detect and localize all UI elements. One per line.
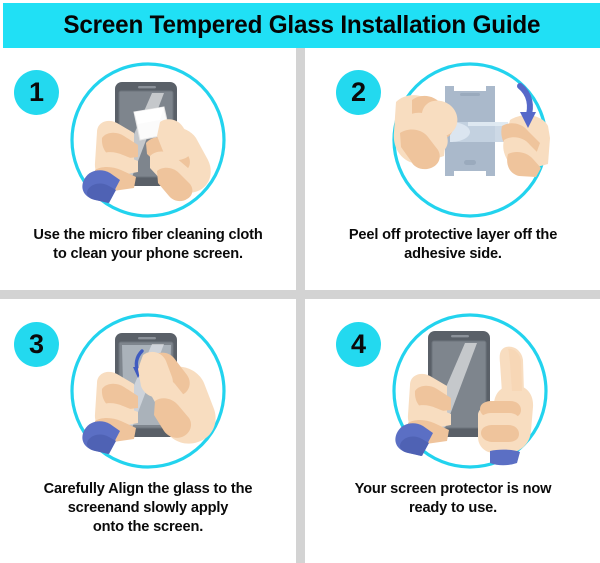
step-caption-1: Use the micro fiber cleaning cloth to cl…: [8, 226, 288, 264]
illustration-hand-phone-cloth: [68, 60, 228, 225]
hand-phone-cloth-icon: [68, 60, 228, 220]
illustration-hand-align-glass: [68, 311, 228, 476]
caption-line: Your screen protector is now: [313, 480, 593, 499]
step-number-badge-1: 1: [14, 70, 59, 115]
illustration-hands-peel-film: [390, 60, 550, 225]
vertical-divider: [296, 48, 305, 563]
step-number-badge-4: 4: [336, 322, 381, 367]
hands-peel-film-icon: [390, 60, 550, 220]
hand-align-glass-icon: [68, 311, 228, 471]
step-number-badge-3: 3: [14, 322, 59, 367]
caption-line: onto the screen.: [8, 518, 288, 537]
caption-line: Use the micro fiber cleaning cloth: [8, 226, 288, 245]
caption-line: Peel off protective layer off the: [313, 226, 593, 245]
step-caption-4: Your screen protector is now ready to us…: [313, 480, 593, 518]
steps-grid: 1: [0, 48, 600, 563]
caption-line: to clean your phone screen.: [8, 245, 288, 264]
step-number-badge-2: 2: [336, 70, 381, 115]
illustration-hand-phone-thumbs-up: [390, 311, 550, 476]
page-title: Screen Tempered Glass Installation Guide: [63, 11, 540, 40]
caption-line: ready to use.: [313, 499, 593, 518]
step-caption-3: Carefully Align the glass to the screena…: [8, 480, 288, 537]
caption-line: screenand slowly apply: [8, 499, 288, 518]
step-caption-2: Peel off protective layer off the adhesi…: [313, 226, 593, 264]
header-banner: Screen Tempered Glass Installation Guide: [3, 3, 600, 48]
caption-line: Carefully Align the glass to the: [8, 480, 288, 499]
hand-phone-thumbs-up-icon: [390, 311, 550, 471]
horizontal-divider: [0, 290, 600, 299]
caption-line: adhesive side.: [313, 245, 593, 264]
